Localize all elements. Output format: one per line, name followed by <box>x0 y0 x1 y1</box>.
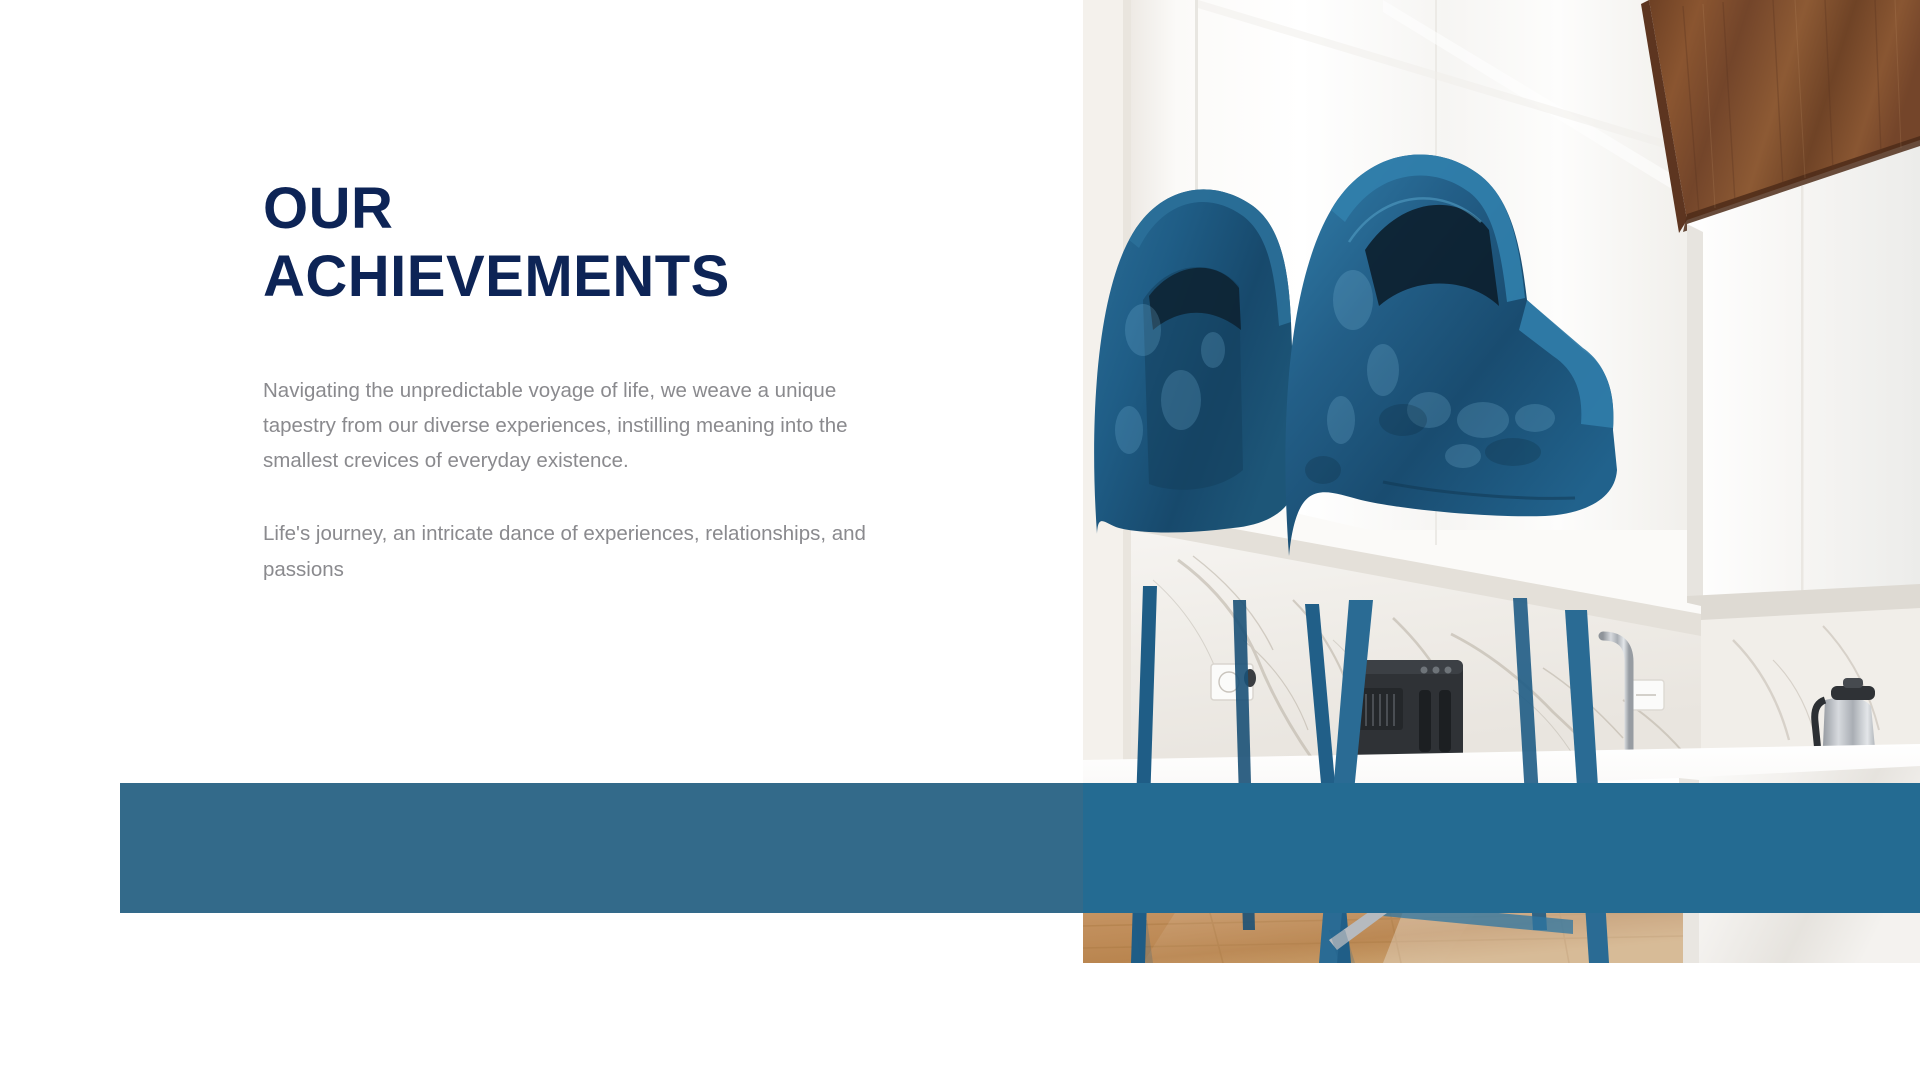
page-title: OUR ACHIEVEMENTS <box>263 175 903 311</box>
paragraph-2: Life's journey, an intricate dance of ex… <box>263 516 883 587</box>
text-column: OUR ACHIEVEMENTS Navigating the unpredic… <box>263 175 903 587</box>
body-copy: Navigating the unpredictable voyage of l… <box>263 373 903 587</box>
paragraph-1: Navigating the unpredictable voyage of l… <box>263 373 883 479</box>
accent-band-photo-overlay <box>1083 783 1920 913</box>
slide-canvas: OUR ACHIEVEMENTS Navigating the unpredic… <box>0 0 1920 1080</box>
